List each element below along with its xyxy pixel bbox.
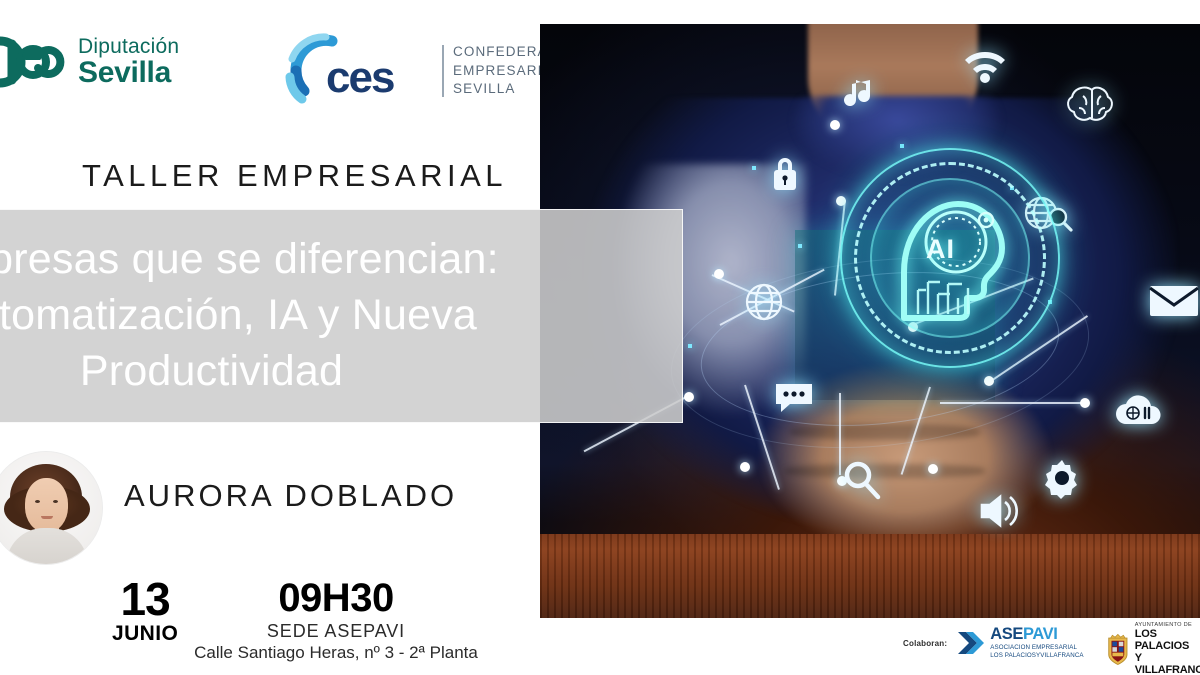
diputacion-line1: Diputación [78, 36, 179, 57]
event-title-line1: Empresas que se diferencian: [0, 232, 499, 288]
asepavi-name: ASEPAVI [990, 626, 1083, 643]
ces-swoosh-icon: ces [282, 33, 390, 109]
event-address: Calle Santiago Heras, nº 3 - 2ª Planta [186, 643, 486, 663]
node-dot [928, 464, 938, 474]
event-venue: SEDE ASEPAVI [186, 621, 486, 642]
diputacion-sevilla-logo: Diputación Sevilla [0, 30, 179, 94]
event-kicker: TALLER EMPRESARIAL [82, 158, 507, 194]
event-title-line2: Automatización, IA y Nueva [0, 288, 477, 344]
coat-of-arms-icon [1106, 632, 1130, 666]
event-title-line3: Productividad [80, 344, 343, 400]
ayuntamiento-line2: Y VILLAFRANCA [1135, 652, 1200, 675]
collaborators-label: Colaboran: [903, 639, 947, 648]
node-dot [1080, 398, 1090, 408]
avatar-mouth [41, 516, 53, 519]
event-poster: Diputación Sevilla ces CONFEDERACIÓN EMP… [0, 0, 1200, 675]
avatar-face [25, 478, 68, 532]
speaker-name: AURORA DOBLADO [124, 478, 457, 514]
brain-icon [1065, 84, 1119, 131]
dse-circle-logo-icon [0, 30, 68, 94]
asepavi-sub1: ASOCIACION EMPRESARIAL [990, 644, 1083, 652]
ayuntamiento-logo: AYUNTAMIENTO DE LOS PALACIOS Y VILLAFRAN… [1106, 622, 1200, 675]
node-dot [684, 392, 694, 402]
gear-icon [1040, 456, 1084, 505]
avatar-eye [35, 500, 40, 503]
asepavi-wordmark: ASEPAVI ASOCIACION EMPRESARIAL LOS PALAC… [990, 626, 1083, 660]
event-title: Empresas que se diferencian: Automatizac… [0, 210, 682, 422]
envelope-icon [1148, 282, 1200, 323]
ai-hologram: AI [840, 148, 1060, 368]
photo-hand-shadow [785, 464, 985, 478]
speaker-avatar [0, 452, 102, 564]
wifi-icon [962, 48, 1008, 89]
asepavi-name-b: PAVI [1023, 625, 1057, 643]
ces-divider [442, 45, 444, 97]
speaker-icon [978, 492, 1024, 535]
collaborators: Colaboran: ASEPAVI ASOCIACION EMPRESARIA… [903, 626, 1084, 660]
event-day: 13 [112, 578, 178, 620]
node-dot [740, 462, 750, 472]
node-dot [830, 120, 840, 130]
asepavi-name-a: ASE [990, 625, 1023, 643]
event-time: 09H30 [186, 578, 486, 618]
diputacion-line2: Sevilla [78, 58, 179, 88]
diputacion-wordmark: Diputación Sevilla [78, 36, 179, 88]
event-month: JUNIO [112, 622, 178, 646]
asepavi-chevron-icon [956, 630, 986, 656]
avatar-eye [53, 500, 58, 503]
event-date: 13 JUNIO [112, 578, 178, 646]
asepavi-sub2: LOS PALACIOSYVILLAFRANCA [990, 652, 1083, 660]
asepavi-logo: ASEPAVI ASOCIACION EMPRESARIAL LOS PALAC… [956, 626, 1083, 660]
spark-dot [688, 344, 692, 348]
cloud-data-icon [1112, 392, 1166, 435]
globe-icon [742, 280, 786, 329]
event-time-venue: 09H30 SEDE ASEPAVI Calle Santiago Heras,… [186, 578, 486, 663]
ces-wordmark: ces [326, 53, 393, 103]
music-note-icon [836, 76, 880, 121]
ayuntamiento-wordmark: AYUNTAMIENTO DE LOS PALACIOS Y VILLAFRAN… [1135, 622, 1200, 675]
ai-label: AI [926, 234, 955, 265]
photo-table [540, 534, 1200, 618]
search-icon [840, 458, 884, 507]
spark-dot [752, 166, 756, 170]
lock-icon [768, 152, 802, 199]
chat-bubble-icon [772, 380, 816, 421]
node-dot [714, 269, 724, 279]
ayuntamiento-line1: LOS PALACIOS [1135, 628, 1200, 652]
event-title-box: Empresas que se diferencian: Automatizac… [0, 209, 683, 423]
